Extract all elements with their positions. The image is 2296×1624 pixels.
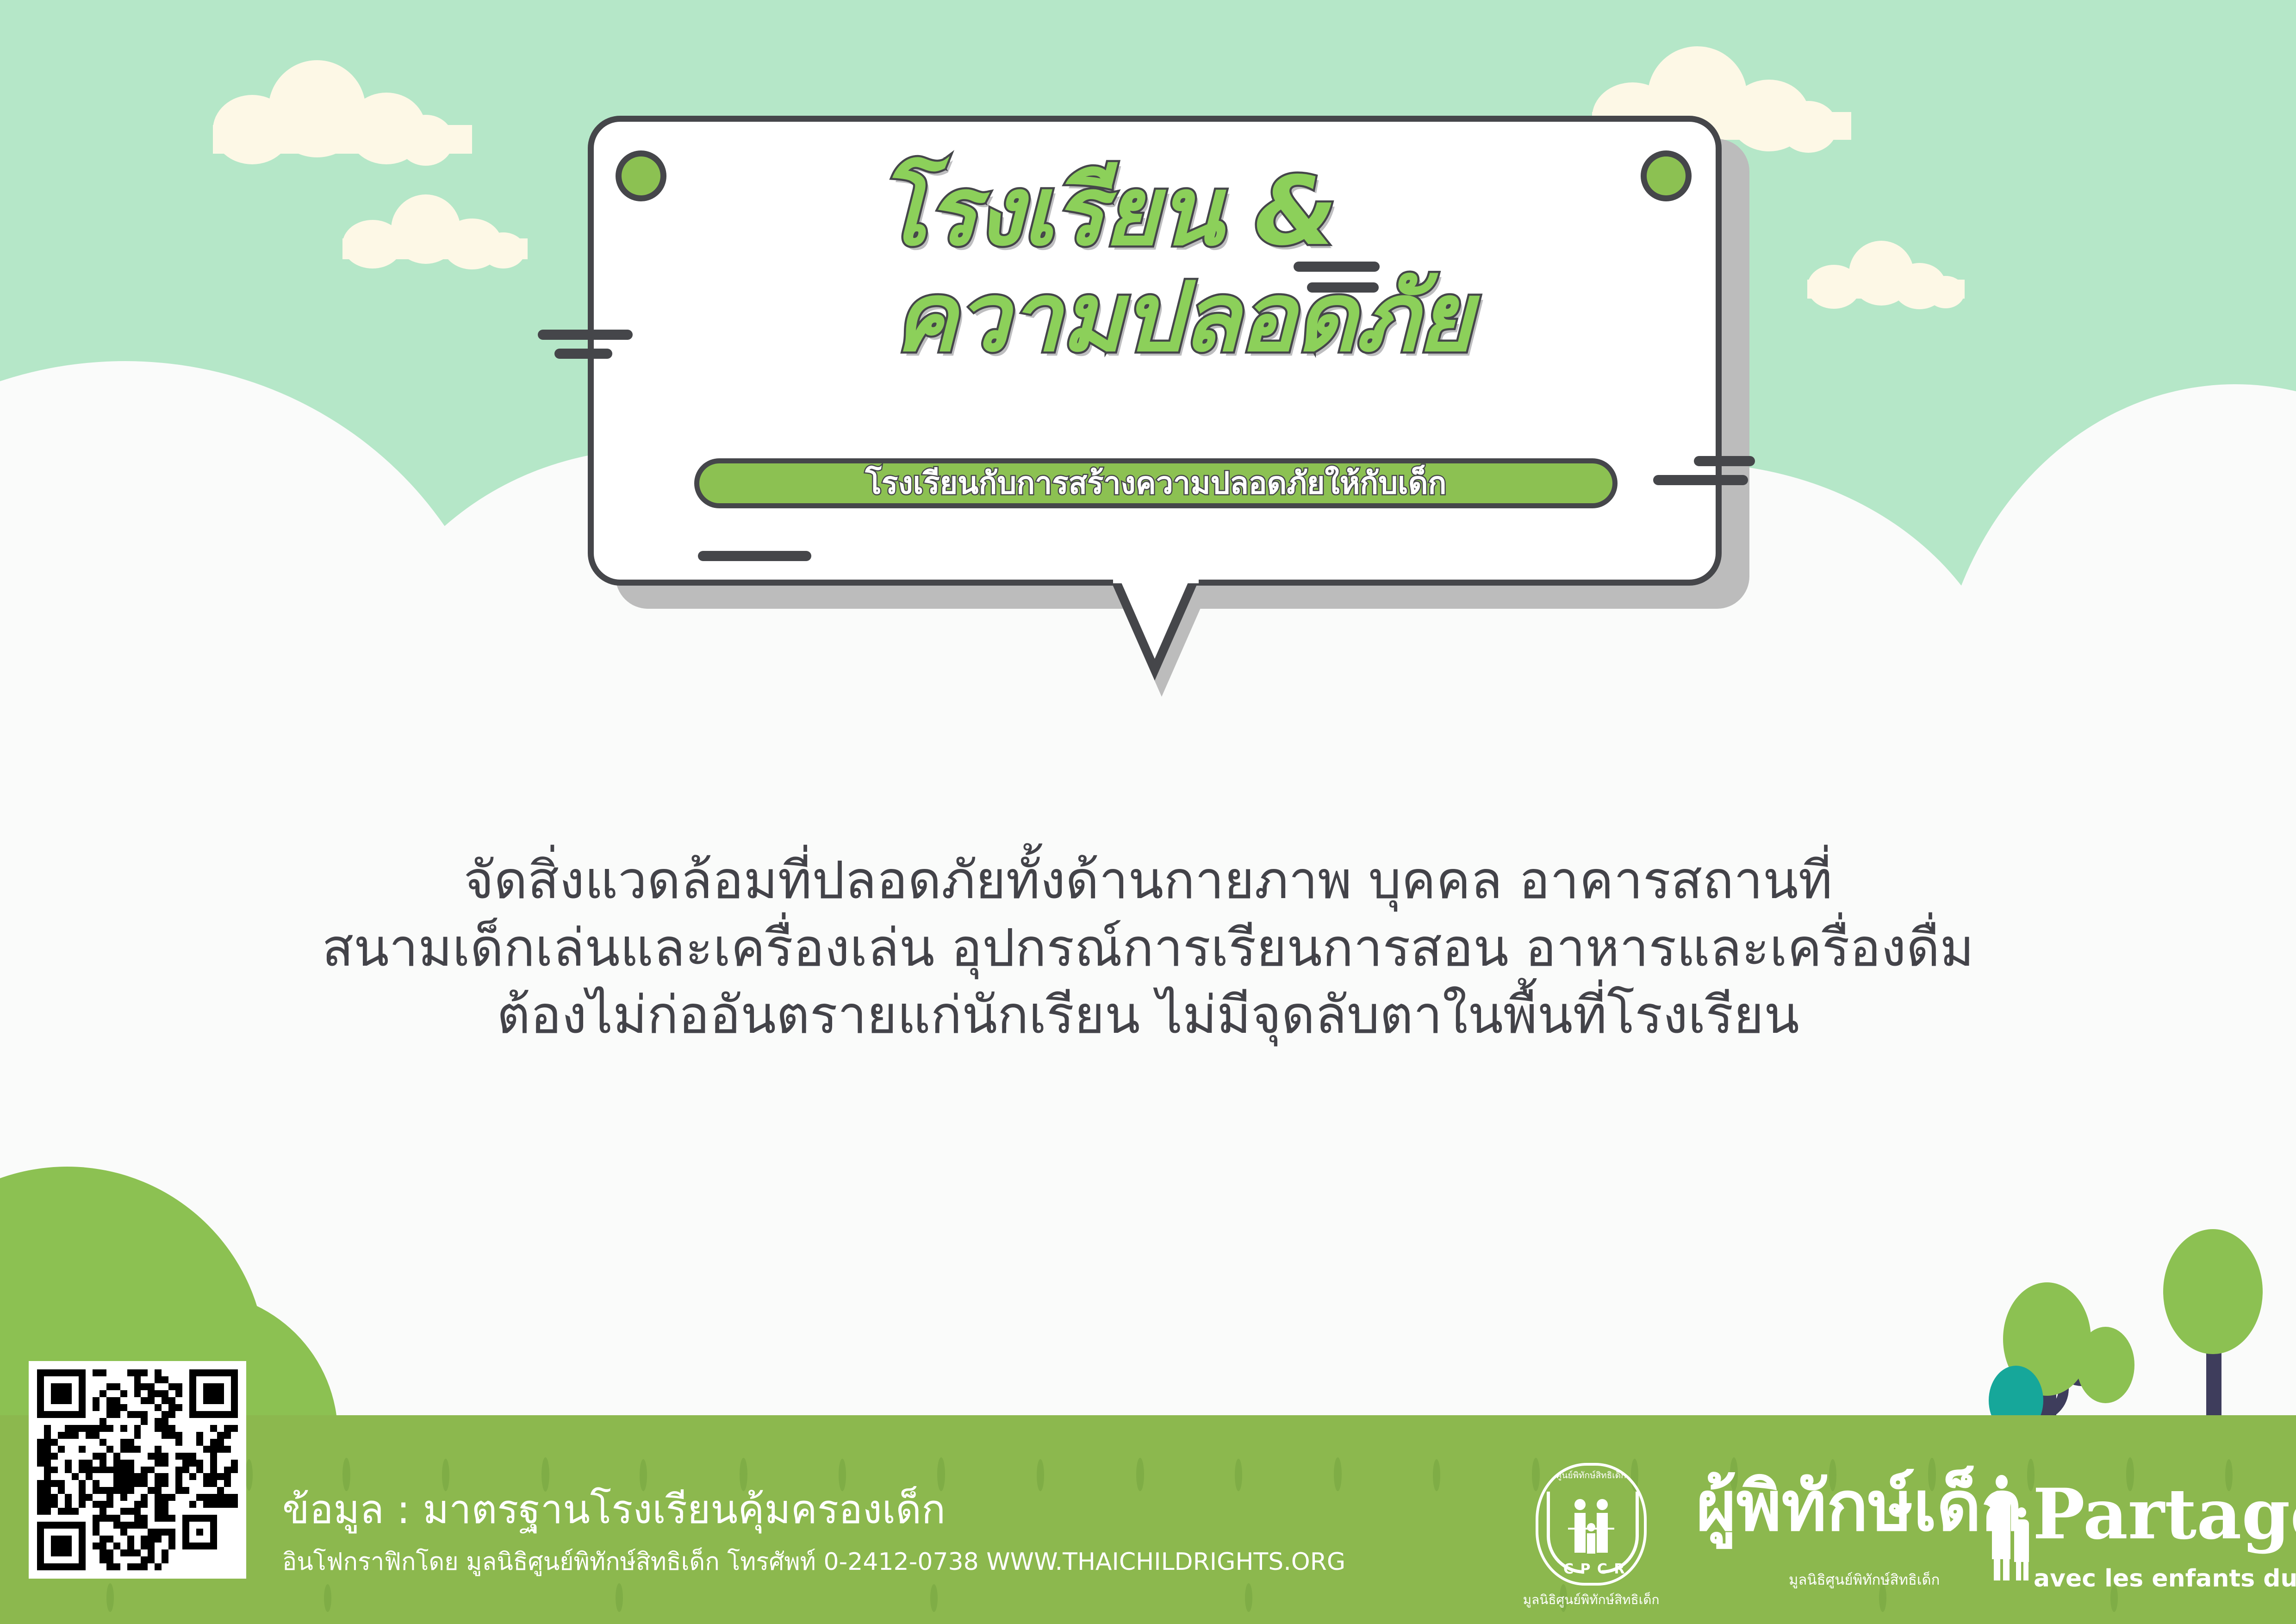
grass-blade [616, 1583, 623, 1612]
grass-blade [1037, 1459, 1044, 1491]
deco-dash-bottom [698, 551, 811, 561]
cpcr-figure-adult-1-head [1574, 1499, 1586, 1510]
cpcr-figure-adult-2-body [1597, 1513, 1608, 1553]
partage-child-leg-r [2023, 1560, 2028, 1580]
grass-blade [324, 1584, 331, 1612]
partage-wordmark: Partage [2033, 1480, 2296, 1549]
grass-blade [106, 1583, 114, 1612]
deco-dash-right-2 [1653, 475, 1748, 485]
subtitle-pill: โรงเรียนกับการสร้างความปลอดภัยให้กับเด็ก [694, 458, 1618, 508]
tree-icon-2-canopy [2163, 1229, 2263, 1354]
partage-adult-head [1996, 1475, 2008, 1489]
grass-blade [930, 1584, 938, 1612]
qr-code-icon[interactable] [29, 1361, 246, 1579]
title-line-1: โรงเรียน & [0, 164, 2254, 259]
speech-bubble-tail-mask [1113, 574, 1199, 583]
partage-child-head [2017, 1507, 2026, 1518]
logo-guardian: ผู้พิทักษ์เด็ก มูลนิธิศูนย์พิทักษ์สิทธิเ… [1696, 1463, 1955, 1611]
logo-partage: Partage avec les enfants du monde [1985, 1457, 2234, 1610]
cpcr-caption: มูลนิธิศูนย์พิทักษ์สิทธิเด็ก [1517, 1593, 1665, 1606]
guardian-caption: มูลนิธิศูนย์พิทักษ์สิทธิเด็ก [1789, 1573, 1940, 1587]
footer-source-line: ข้อมูล : มาตรฐานโรงเรียนคุ้มครองเด็ก [282, 1490, 946, 1530]
grass-blade [1136, 1458, 1144, 1491]
body-line-3: ต้องไม่ก่ออันตรายแก่นักเรียน ไม่มีจุดลับ… [0, 982, 2296, 1049]
cpcr-figure-adult-1-body [1574, 1513, 1586, 1553]
logo-cpcr: ศูนย์พิทักษ์สิทธิเด็ก C P C R มูลนิธิศูน… [1523, 1458, 1675, 1611]
poster-canvas: โรงเรียน & ความปลอดภัย โรงเรียนกับการสร้… [0, 0, 2296, 1624]
qr-matrix [37, 1369, 238, 1570]
partage-adult-leg-l [1994, 1555, 2000, 1580]
partage-adult-body [1992, 1491, 2010, 1559]
grass-blade [245, 1459, 253, 1491]
poster-title: โรงเรียน & ความปลอดภัย [0, 164, 2296, 365]
cpcr-figure-adult-2-head [1597, 1499, 1608, 1510]
partage-adult-leg-r [2003, 1555, 2010, 1580]
body-line-1: จัดสิ่งแวดล้อมที่ปลอดภัยทั้งด้านกายภาพ บ… [0, 847, 2296, 915]
cpcr-figure-child-body [1587, 1533, 1595, 1554]
grass-blade [1235, 1459, 1242, 1491]
cpcr-figure-child-head [1587, 1523, 1595, 1531]
cpcr-acronym: C P C R [1563, 1561, 1619, 1577]
partage-tagline: avec les enfants du monde [2034, 1567, 2296, 1591]
partage-child-leg-l [2016, 1560, 2021, 1580]
subtitle-pill-label: โรงเรียนกับการสร้างความปลอดภัยให้กับเด็ก [865, 468, 1446, 499]
tree-icon-1-canopy-side [2077, 1327, 2134, 1403]
body-line-2: สนามเด็กเล่นและเครื่องเล่น อุปกรณ์การเรี… [0, 915, 2296, 982]
guardian-wordmark: ผู้พิทักษ์เด็ก [1696, 1472, 2022, 1541]
grass-blade [1433, 1459, 1440, 1491]
partage-child-body [2014, 1519, 2029, 1562]
grass-blade [1334, 1457, 1342, 1491]
cpcr-seal-top-text: ศูนย์พิทักษ์สิทธิเด็ก [1545, 1468, 1637, 1482]
cloud-icon-1 [213, 60, 472, 153]
speech-bubble-tail-fill [1119, 576, 1191, 659]
body-copy: จัดสิ่งแวดล้อมที่ปลอดภัยทั้งด้านกายภาพ บ… [0, 847, 2296, 1049]
title-line-2: ความปลอดภัย [35, 270, 2296, 365]
footer-credit-line: อินโฟกราฟิกโดย มูลนิธิศูนย์พิทักษ์สิทธิเ… [282, 1550, 1345, 1574]
deco-dash-right-1 [1694, 456, 1755, 466]
cpcr-scales-icon [1568, 1528, 1614, 1530]
grass-blade [1245, 1583, 1252, 1612]
